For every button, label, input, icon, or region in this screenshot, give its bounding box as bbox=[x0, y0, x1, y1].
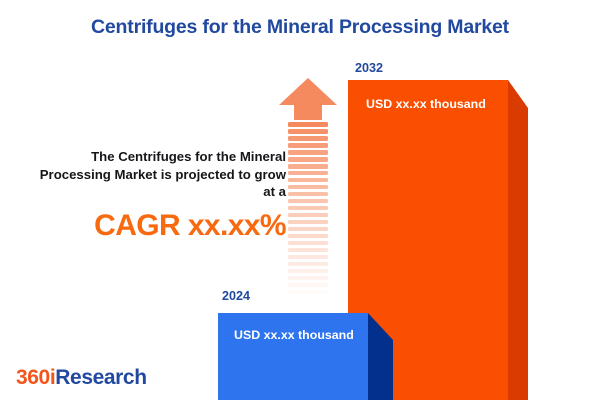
arrow-stripe bbox=[288, 178, 328, 183]
arrow-stripe bbox=[288, 136, 328, 141]
arrow-stripe bbox=[288, 283, 328, 288]
bar-2024-side-face bbox=[368, 313, 393, 400]
arrow-stripe bbox=[288, 248, 328, 253]
arrow-stripe bbox=[288, 157, 328, 162]
page-title: Centrifuges for the Mineral Processing M… bbox=[0, 16, 600, 39]
arrow-stripe bbox=[288, 234, 328, 239]
arrow-stripe bbox=[288, 276, 328, 281]
arrow-stripe bbox=[288, 150, 328, 155]
bar-year-label-2024: 2024 bbox=[222, 289, 250, 303]
arrow-stripe bbox=[288, 206, 328, 211]
up-arrow-icon bbox=[278, 78, 338, 306]
arrow-stripe bbox=[288, 262, 328, 267]
arrow-stripe bbox=[288, 199, 328, 204]
arrow-stripe bbox=[288, 129, 328, 134]
up-arrow-head-icon bbox=[278, 78, 338, 120]
logo-suffix: Research bbox=[55, 366, 146, 389]
arrow-stripe bbox=[288, 192, 328, 197]
arrow-stripe bbox=[288, 143, 328, 148]
arrow-stripe bbox=[288, 171, 328, 176]
bar-2024-front-face bbox=[218, 313, 368, 400]
arrow-stripe bbox=[288, 290, 328, 295]
bar-value-label-2032: USD xx.xx thousand bbox=[366, 97, 486, 111]
bar-value-label-2024: USD xx.xx thousand bbox=[234, 328, 354, 342]
arrow-stripe-stack bbox=[288, 122, 328, 306]
arrow-stripe bbox=[288, 227, 328, 232]
arrow-stripe bbox=[288, 213, 328, 218]
logo-prefix: 360i bbox=[16, 366, 55, 389]
arrow-stripe bbox=[288, 122, 328, 127]
bar-2024: USD xx.xx thousand bbox=[218, 313, 398, 400]
bar-2032-side-face bbox=[508, 80, 528, 400]
arrow-stripe bbox=[288, 255, 328, 260]
brand-logo: 360iResearch bbox=[16, 366, 147, 390]
arrow-stripe bbox=[288, 185, 328, 190]
arrow-stripe bbox=[288, 241, 328, 246]
cagr-statement: The Centrifuges for the Mineral Processi… bbox=[30, 148, 286, 201]
arrow-stripe bbox=[288, 269, 328, 274]
arrow-stripe bbox=[288, 220, 328, 225]
arrow-stripe bbox=[288, 164, 328, 169]
arrow-stripe bbox=[288, 297, 328, 302]
cagr-value: CAGR xx.xx% bbox=[30, 210, 286, 242]
cagr-callout: The Centrifuges for the Mineral Processi… bbox=[30, 148, 286, 241]
bar-year-label-2032: 2032 bbox=[355, 61, 383, 75]
infographic-canvas: Centrifuges for the Mineral Processing M… bbox=[0, 0, 600, 400]
